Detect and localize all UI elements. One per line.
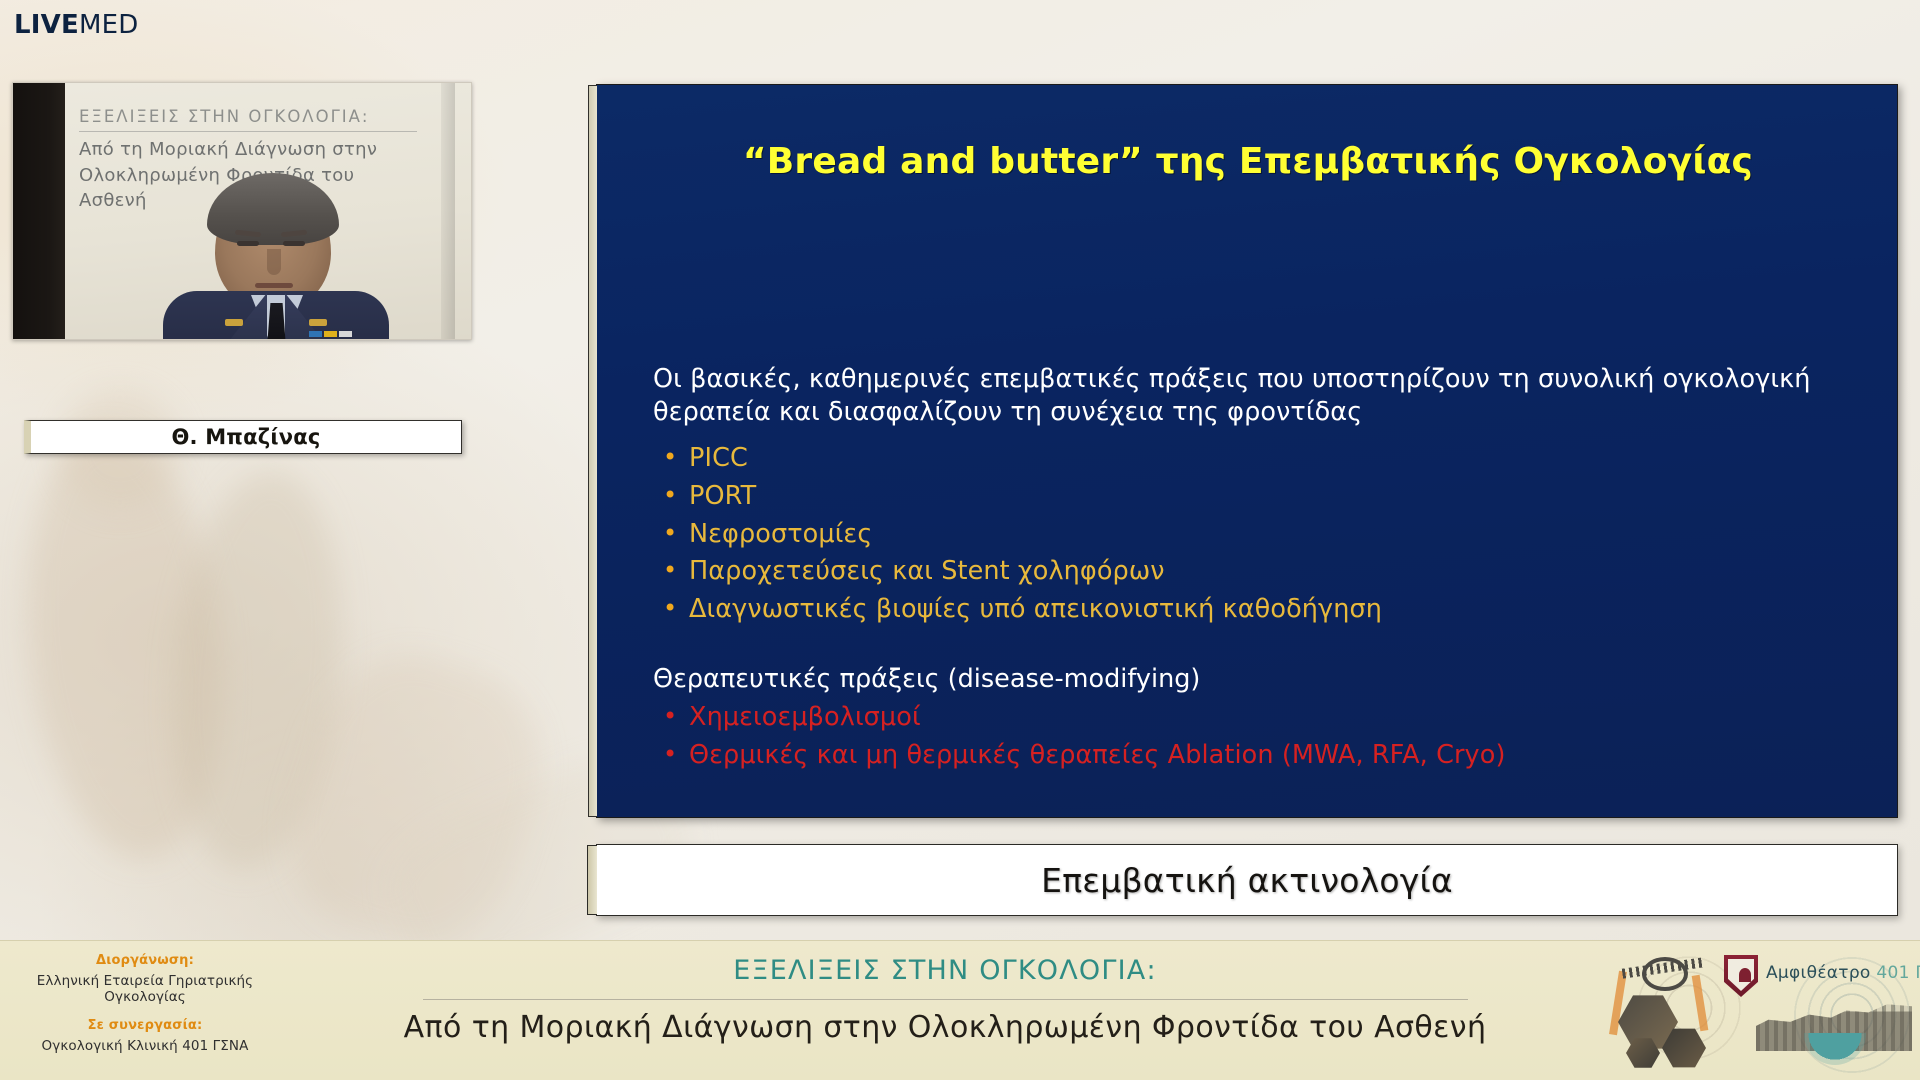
projected-slide-title: ΕΞΕΛΙΞΕΙΣ ΣΤΗΝ ΟΓΚΟΛΟΓΙΑ: (79, 107, 419, 126)
list-item: Παροχετεύσεις και Stent χοληφόρων (653, 554, 1859, 590)
list-item: Θερμικές και μη θερμικές θεραπείες Ablat… (653, 738, 1859, 774)
venue-shield-inner (1728, 959, 1754, 991)
caption-text: Επεμβατική ακτινολογία (1041, 861, 1453, 900)
speaker-video[interactable]: ΕΞΕΛΙΞΕΙΣ ΣΤΗΝ ΟΓΚΟΛΟΓΙΑ: Από τη Μοριακή… (12, 82, 472, 340)
speaker-name-text: Θ. Μπαζίνας (171, 425, 320, 449)
uniform-wings-insignia (309, 319, 327, 326)
footer-venue-block: Αμφιθέατρο 401 ΓΣΝΑ (1608, 941, 1920, 1080)
venue-shield-emblem (1739, 968, 1751, 982)
event-title-divider (423, 999, 1468, 1000)
venue-name-text: Αμφιθέατρο (1766, 963, 1871, 983)
venue-label: Αμφιθέατρο 401 ΓΣΝΑ (1766, 963, 1920, 983)
projection-screen-edge (441, 83, 455, 339)
background-artwork (8, 421, 242, 869)
logo-med-text: MED (79, 10, 138, 40)
list-item: Νεφροστομίες (653, 517, 1859, 553)
event-footer: Διοργάνωση: Ελληνική Εταιρεία Γηριατρική… (0, 940, 1920, 1080)
basic-procedures-list: PICC PORT Νεφροστομίες Παροχετεύσεις και… (653, 441, 1859, 627)
caption-left-accent (587, 845, 597, 915)
speaker-figure (163, 179, 389, 340)
slide-caption-bar: Επεμβατική ακτινολογία (596, 844, 1898, 916)
slide-title: “Bread and butter” της Επεμβατικής Ογκολ… (637, 141, 1859, 182)
list-item: Διαγνωστικές βιοψίες υπό απεικονιστική κ… (653, 592, 1859, 628)
event-subtitle: Από τη Μοριακή Διάγνωση στην Ολοκληρωμέν… (300, 1010, 1590, 1045)
presentation-viewer: LIVEMED ΕΞΕΛΙΞΕΙΣ ΣΤΗΝ ΟΓΚΟΛΟΓΙΑ: Από τη… (0, 0, 1920, 1080)
speaker-eye (283, 241, 305, 246)
decorative-ring-icon (1642, 957, 1688, 991)
cooperation-value: Ογκολογική Κλινική 401 ΓΣΝΑ (0, 1038, 290, 1054)
slide-intro-paragraph: Οι βασικές, καθημερινές επεμβατικές πράξ… (653, 363, 1859, 429)
event-title: ΕΞΕΛΙΞΕΙΣ ΣΤΗΝ ΟΓΚΟΛΟΓΙΑ: (300, 955, 1590, 986)
venue-code-text: 401 ΓΣΝΑ (1876, 963, 1920, 983)
background-artwork (158, 464, 357, 877)
organizer-value: Ελληνική Εταιρεία Γηριατρικής Ογκολογίας (0, 973, 290, 1005)
video-wall-shadow (13, 83, 65, 339)
uniform-wings-insignia (225, 319, 243, 326)
list-item: PORT (653, 479, 1859, 515)
uniform-ribbon-bar (309, 331, 352, 340)
top-bar: LIVEMED (0, 0, 1920, 60)
speaker-mouth (255, 283, 293, 288)
logo-live-text: LIVE (14, 10, 79, 40)
footer-event-title-block: ΕΞΕΛΙΞΕΙΣ ΣΤΗΝ ΟΓΚΟΛΟΓΙΑ: Από τη Μοριακή… (300, 955, 1590, 1045)
organizer-label: Διοργάνωση: (0, 953, 290, 968)
therapeutic-procedures-list: Χημειοεμβολισμοί Θερμικές και μη θερμικέ… (653, 700, 1859, 773)
presentation-slide[interactable]: “Bread and butter” της Επεμβατικής Ογκολ… (596, 84, 1898, 818)
background-artwork (262, 631, 567, 968)
projected-slide-rule (79, 131, 417, 132)
list-item: Χημειοεμβολισμοί (653, 700, 1859, 736)
slide-left-accent (588, 85, 597, 817)
cooperation-label: Σε συνεργασία: (0, 1018, 290, 1033)
slide-body: Οι βασικές, καθημερινές επεμβατικές πράξ… (653, 363, 1859, 776)
footer-organizers: Διοργάνωση: Ελληνική Εταιρεία Γηριατρική… (0, 953, 290, 1054)
speaker-name-plate: Θ. Μπαζίνας (24, 420, 462, 454)
list-item: PICC (653, 441, 1859, 477)
speaker-eye (237, 241, 259, 246)
speaker-hair (207, 173, 339, 245)
livemed-logo[interactable]: LIVEMED (14, 12, 138, 38)
therapeutic-section-heading: Θεραπευτικές πράξεις (disease-modifying) (653, 662, 1859, 696)
speaker-nose (267, 249, 281, 275)
